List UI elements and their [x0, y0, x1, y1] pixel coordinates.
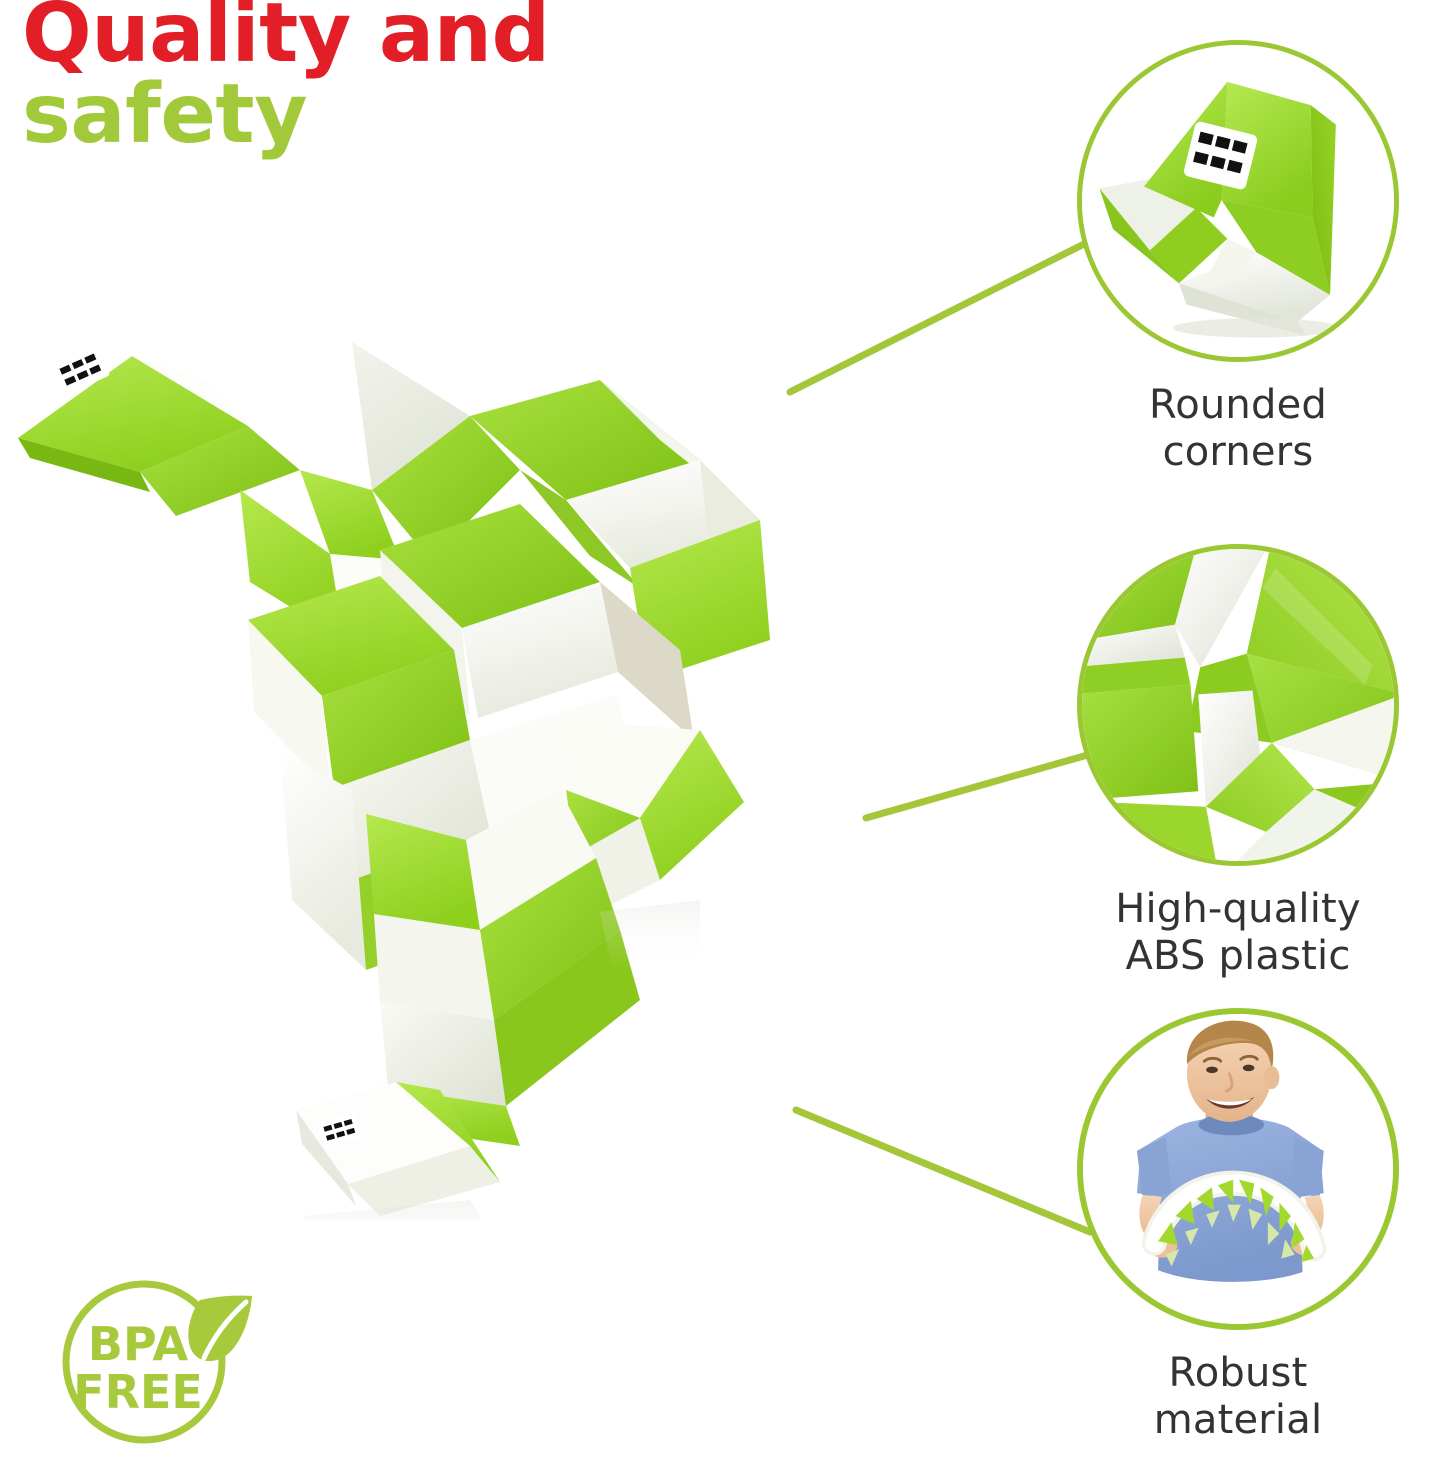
callout-circle-frame	[1077, 1008, 1399, 1330]
boy-bending-puzzle-image	[1083, 1014, 1393, 1324]
bpa-badge-line-2: FREE	[73, 1365, 203, 1419]
callout-label-abs-plastic: High-quality ABS plastic	[1058, 886, 1418, 980]
connector-line-robust-material	[796, 1110, 1090, 1232]
page-title: Quality and safety	[22, 0, 662, 153]
callout-rounded-corners: Rounded corners	[1058, 40, 1418, 476]
callout-circle-frame	[1077, 544, 1399, 866]
callout-robust-material: Robust material	[1058, 1008, 1418, 1444]
bpa-badge-line-1: BPA	[88, 1317, 189, 1371]
page-title-line-1: Quality and	[22, 0, 662, 71]
plastic-surface-macro-image	[1082, 549, 1394, 861]
puzzle-segment-closeup-image	[1082, 45, 1394, 357]
callout-label-robust-material: Robust material	[1058, 1350, 1418, 1444]
callout-label-rounded-corners: Rounded corners	[1058, 382, 1418, 476]
infographic-page: Quality and safety	[0, 0, 1445, 1462]
bpa-free-badge: BPA FREE	[52, 1272, 282, 1452]
page-title-line-2: safety	[22, 77, 662, 152]
callout-abs-plastic: High-quality ABS plastic	[1058, 544, 1418, 980]
callout-circle-frame	[1077, 40, 1399, 362]
product-hero-image	[0, 320, 840, 1220]
